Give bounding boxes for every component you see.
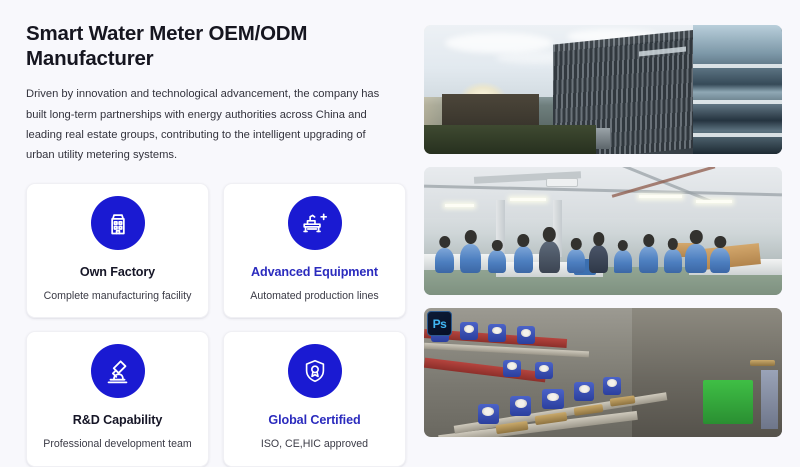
production-machine-icon [288,196,342,250]
page-root: Smart Water Meter OEM/ODM Manufacturer D… [0,0,800,457]
card-subtitle: Complete manufacturing facility [44,290,192,304]
feature-card-rd-capability[interactable]: R&D Capability Professional development … [26,331,209,467]
card-title: Global Certified [268,413,360,427]
photo-column: Ps [424,22,782,437]
shield-award-icon [288,344,342,398]
page-title: Smart Water Meter OEM/ODM Manufacturer [26,22,406,71]
card-title: Advanced Equipment [251,265,378,279]
microscope-icon [91,344,145,398]
feature-card-global-certified[interactable]: Global Certified ISO, CE,HIC approved [223,331,406,467]
feature-card-grid: Own Factory Complete manufacturing facil… [26,183,406,467]
production-line-photo: Ps [424,308,782,437]
factory-building-icon [91,196,145,250]
card-subtitle: Professional development team [43,438,191,452]
card-title: R&D Capability [73,413,163,427]
card-subtitle: Automated production lines [250,290,378,304]
intro-paragraph: Driven by innovation and technological a… [26,84,392,166]
card-subtitle: ISO, CE,HIC approved [261,438,368,452]
content-column: Smart Water Meter OEM/ODM Manufacturer D… [26,22,406,437]
photoshop-badge-icon: Ps [427,311,452,336]
card-title: Own Factory [80,265,155,279]
company-building-photo [424,25,782,154]
feature-card-own-factory[interactable]: Own Factory Complete manufacturing facil… [26,183,209,319]
feature-card-advanced-equipment[interactable]: Advanced Equipment Automated production … [223,183,406,319]
assembly-floor-photo [424,167,782,296]
